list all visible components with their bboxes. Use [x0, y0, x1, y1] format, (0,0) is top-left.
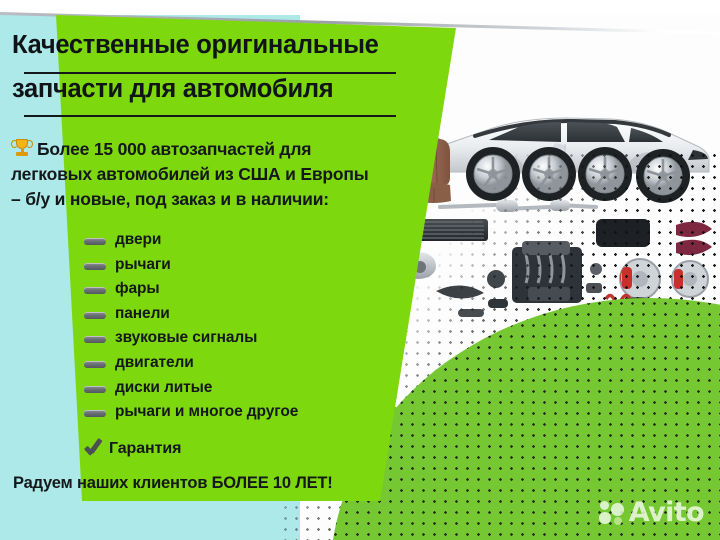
tagline: Радуем наших клиентов БОЛЕЕ 10 ЛЕТ!: [13, 474, 333, 493]
parts-list: двери рычаги фары панели звуковые сигнал…: [84, 228, 384, 425]
list-item: двери: [84, 228, 384, 253]
guarantee-label: Гарантия: [109, 440, 181, 457]
list-item-label: диски литые: [115, 379, 212, 396]
bullet-dash-icon: [84, 263, 106, 270]
check-icon: [84, 438, 104, 456]
advertisement-banner: Качественные оригинальные запчасти для а…: [0, 0, 720, 540]
headline-line-1: Качественные оригинальные: [12, 30, 412, 61]
list-item: диски литые: [84, 376, 384, 401]
list-item-label: двигатели: [115, 354, 194, 371]
avito-brand-text: Avito: [629, 499, 704, 526]
bullet-dash-icon: [84, 386, 106, 393]
list-item-label: двери: [115, 231, 161, 248]
list-item: рычаги и многое другое: [84, 400, 384, 425]
bullet-dash-icon: [84, 238, 106, 245]
bullet-dash-icon: [84, 410, 106, 417]
list-item: рычаги: [84, 253, 384, 278]
bullet-dash-icon: [84, 287, 106, 294]
ad-content: Качественные оригинальные запчасти для а…: [0, 0, 720, 540]
list-item: фары: [84, 277, 384, 302]
subheadline-line-2: легковых автомобилей из США и Европы: [11, 164, 368, 184]
avito-logo-icon: [599, 501, 625, 525]
headline-divider-2: [24, 115, 396, 117]
list-item: панели: [84, 302, 384, 327]
subheadline-line-3: – б/у и новые, под заказ и в наличии:: [11, 189, 329, 209]
page-title: Качественные оригинальные запчасти для а…: [12, 30, 412, 105]
bullet-dash-icon: [84, 336, 106, 343]
list-item-label: рычаги: [115, 256, 171, 273]
avito-watermark: Avito: [599, 499, 704, 526]
list-item: двигатели: [84, 351, 384, 376]
list-item-label: звуковые сигналы: [115, 329, 257, 346]
guarantee-badge: Гарантия: [84, 438, 181, 458]
subheadline-line-1: Более 15 000 автозапчастей для: [37, 139, 311, 159]
headline-divider-1: [24, 72, 396, 74]
bullet-dash-icon: [84, 361, 106, 368]
headline-line-2: запчасти для автомобиля: [12, 74, 412, 105]
subheadline: Более 15 000 автозапчастей для легковых …: [11, 137, 415, 212]
list-item-label: рычаги и многое другое: [115, 403, 298, 420]
list-item: звуковые сигналы: [84, 326, 384, 351]
list-item-label: фары: [115, 280, 160, 297]
list-item-label: панели: [115, 305, 170, 322]
bullet-dash-icon: [84, 312, 106, 319]
trophy-icon: [11, 138, 33, 158]
